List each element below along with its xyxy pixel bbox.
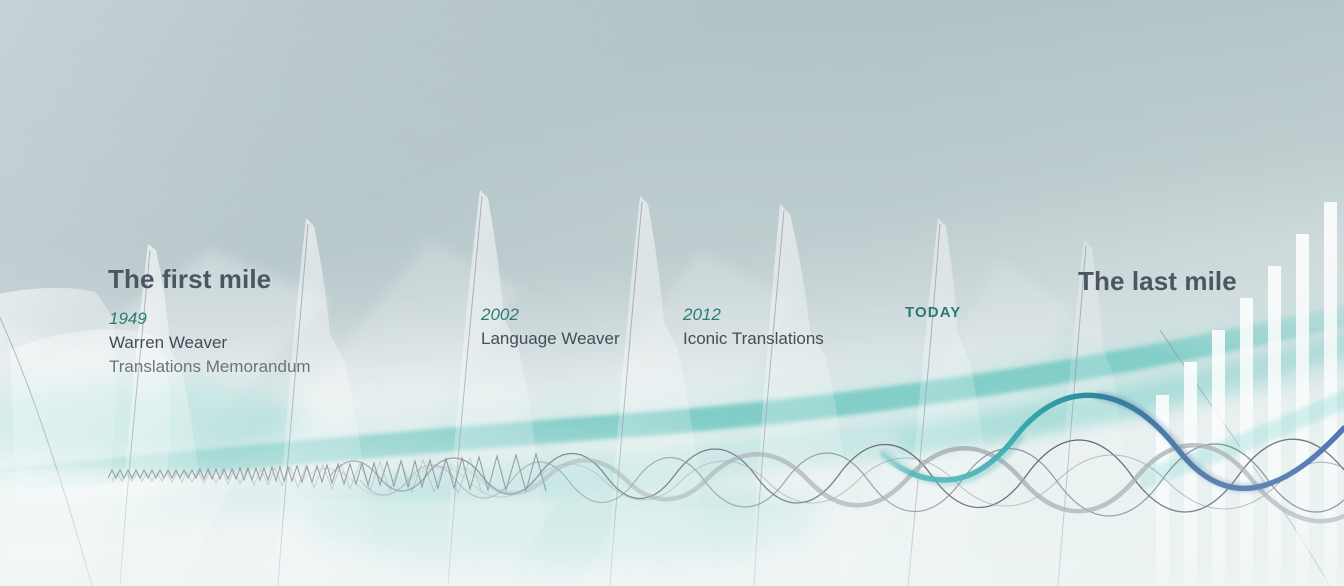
milestone-2012: 2012 Iconic Translations bbox=[683, 304, 824, 351]
milestone-today: TODAY bbox=[905, 304, 961, 321]
milestone-subtitle: Translations Memorandum bbox=[109, 355, 311, 379]
milestone-name: Iconic Translations bbox=[683, 327, 824, 351]
milestone-last-mile: The last mile bbox=[1078, 266, 1237, 297]
milestone-name: Warren Weaver bbox=[109, 331, 311, 355]
milestone-1949: 1949 Warren Weaver Translations Memorand… bbox=[109, 308, 311, 379]
milestone-year: 1949 bbox=[109, 308, 311, 331]
today-label: TODAY bbox=[905, 304, 961, 321]
milestone-2002: 2002 Language Weaver bbox=[481, 304, 620, 351]
milestone-name: Language Weaver bbox=[481, 327, 620, 351]
page-title-last-mile: The last mile bbox=[1078, 266, 1237, 297]
milestone-first-mile: The first mile bbox=[108, 264, 271, 303]
banner-canvas: The first mile 1949 Warren Weaver Transl… bbox=[0, 0, 1344, 586]
milestone-year: 2012 bbox=[683, 304, 824, 327]
milestone-year: 2002 bbox=[481, 304, 620, 327]
timeline-labels: The first mile 1949 Warren Weaver Transl… bbox=[0, 0, 1344, 586]
page-title-first-mile: The first mile bbox=[108, 264, 271, 295]
